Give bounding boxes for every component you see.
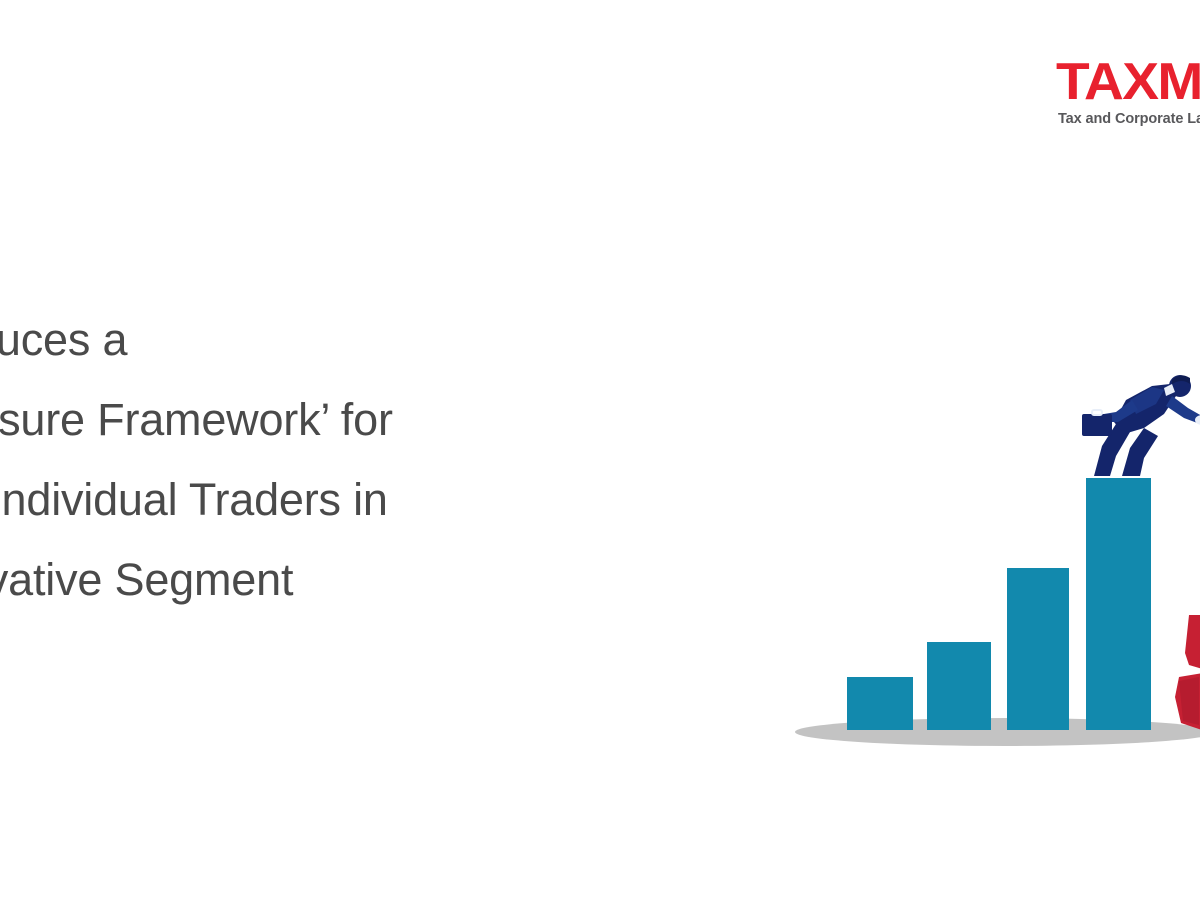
headline-line-2: ‘Risk Disclosure Framework’ for — [0, 380, 768, 460]
businessman-figure-icon — [1060, 370, 1200, 485]
headline-line-4: Equity Derivative Segment — [0, 540, 768, 620]
page-title: SEBI Introduces a ‘Risk Disclosure Frame… — [0, 300, 768, 620]
chart-bar-4 — [1086, 478, 1151, 730]
taxmann-logo: TAXMANN Tax and Corporate Law — [1056, 55, 1200, 127]
growth-bar-chart-illustration — [760, 360, 1200, 760]
chart-bar-3 — [1007, 568, 1069, 730]
logo-tagline: Tax and Corporate Law — [1058, 111, 1200, 127]
red-seated-figure-icon — [1165, 615, 1200, 735]
chart-bar-1 — [847, 677, 913, 730]
headline-line-1: SEBI Introduces a — [0, 300, 768, 380]
logo-wordmark: TAXMANN — [1056, 55, 1200, 109]
headline-line-3: Trading by Individual Traders in — [0, 460, 768, 540]
article-banner: TAXMANN Tax and Corporate Law SEBI Intro… — [0, 0, 1200, 900]
chart-bar-2 — [927, 642, 991, 730]
